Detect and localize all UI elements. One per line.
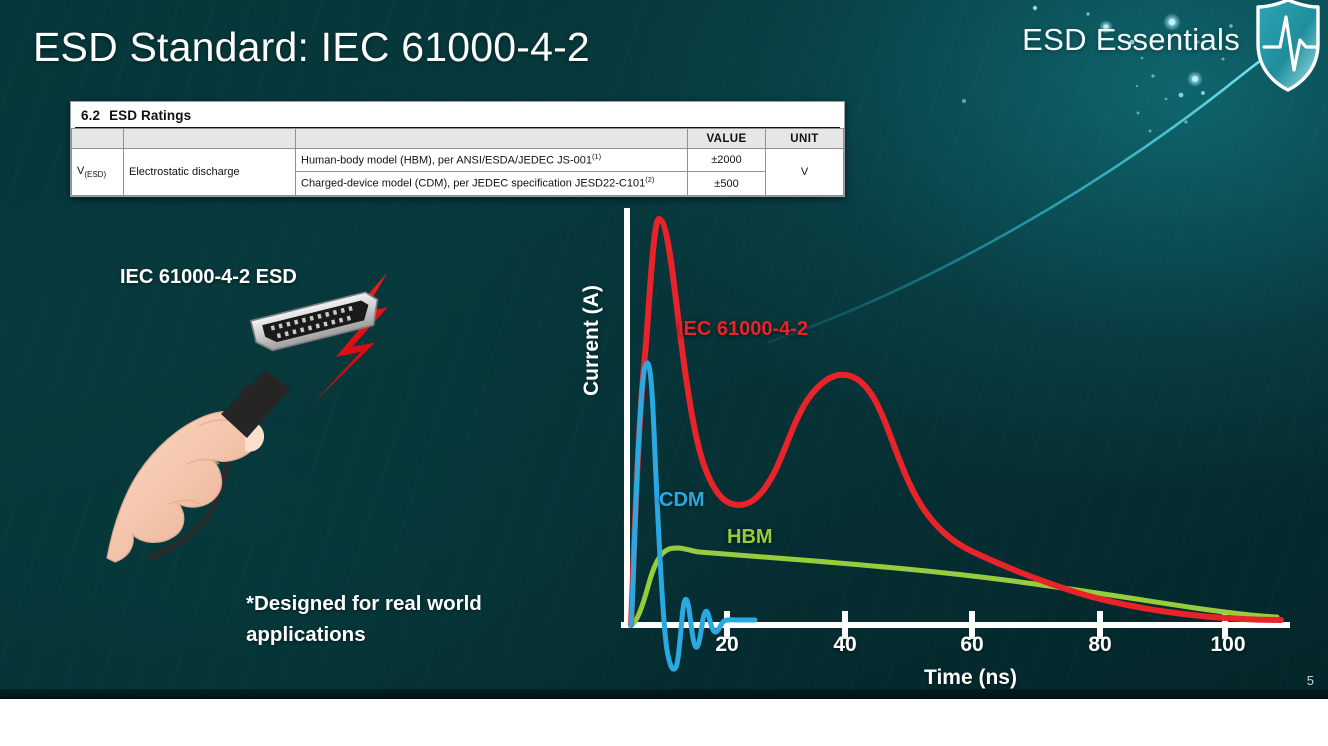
hdmi-connector-icon <box>251 290 383 354</box>
chart-axes <box>624 211 1287 625</box>
x-tick-label-40: 40 <box>833 633 856 657</box>
cdm-description: Charged-device model (CDM), per JEDEC sp… <box>301 178 645 190</box>
x-tick-label-20: 20 <box>715 633 738 657</box>
description-cell-hbm: Human-body model (HBM), per ANSI/ESDA/JE… <box>296 149 688 172</box>
symbol-subscript: (ESD) <box>84 170 106 179</box>
page-title: ESD Standard: IEC 61000-4-2 <box>33 24 590 71</box>
hbm-footnote: (1) <box>592 152 601 161</box>
note-line-2: applications <box>246 620 482 651</box>
cdm-value: ±500 <box>688 172 766 195</box>
table-section-name: ESD Ratings <box>109 108 191 123</box>
footer-bar: TEXAS INSTRUMENTS <box>0 699 1328 746</box>
header-parameter-cell <box>124 129 296 149</box>
hbm-value: ±2000 <box>688 149 766 172</box>
brand-label: ESD Essentials <box>1022 22 1240 58</box>
hand-holding-connector-icon <box>95 258 435 568</box>
real-world-note: *Designed for real world applications <box>246 589 482 651</box>
series-label-hbm: HBM <box>727 526 773 549</box>
table-header-row: VALUE UNIT <box>72 129 844 149</box>
unit-cell: V <box>766 149 844 196</box>
header-value: VALUE <box>688 129 766 149</box>
series-iec-curve <box>631 219 1281 625</box>
description-cell-cdm: Charged-device model (CDM), per JEDEC sp… <box>296 172 688 195</box>
symbol-cell: V(ESD) <box>72 149 124 196</box>
header-symbol-cell <box>72 129 124 149</box>
hbm-description: Human-body model (HBM), per ANSI/ESDA/JE… <box>301 155 592 167</box>
series-label-cdm: CDM <box>659 489 705 512</box>
series-label-iec: IEC 61000-4-2 <box>678 318 808 341</box>
x-tick-label-80: 80 <box>1088 633 1111 657</box>
ratings-grid: VALUE UNIT V(ESD) Electrostatic discharg… <box>71 128 844 196</box>
shield-pulse-icon <box>1250 0 1326 96</box>
table-row: V(ESD) Electrostatic discharge Human-bod… <box>72 149 844 172</box>
cdm-footnote: (2) <box>645 175 654 184</box>
table-section-title: 6.2ESD Ratings <box>75 104 840 128</box>
x-axis-label: Time (ns) <box>924 666 1017 690</box>
esd-waveform-chart: IEC <box>575 205 1305 695</box>
x-tick-label-100: 100 <box>1210 633 1245 657</box>
y-axis-label: Current (A) <box>580 368 604 396</box>
x-tick-label-60: 60 <box>960 633 983 657</box>
header-description-cell <box>296 129 688 149</box>
header-unit: UNIT <box>766 129 844 149</box>
parameter-cell: Electrostatic discharge <box>124 149 296 196</box>
note-line-1: *Designed for real world <box>246 589 482 620</box>
esd-ratings-table: 6.2ESD Ratings VALUE UNIT V(ESD) Electro… <box>70 101 845 197</box>
table-section-number: 6.2 <box>81 108 100 123</box>
slide-root: ESD Standard: IEC 61000-4-2 ESD Essentia… <box>0 0 1328 746</box>
slide-number: 5 <box>1307 673 1314 688</box>
